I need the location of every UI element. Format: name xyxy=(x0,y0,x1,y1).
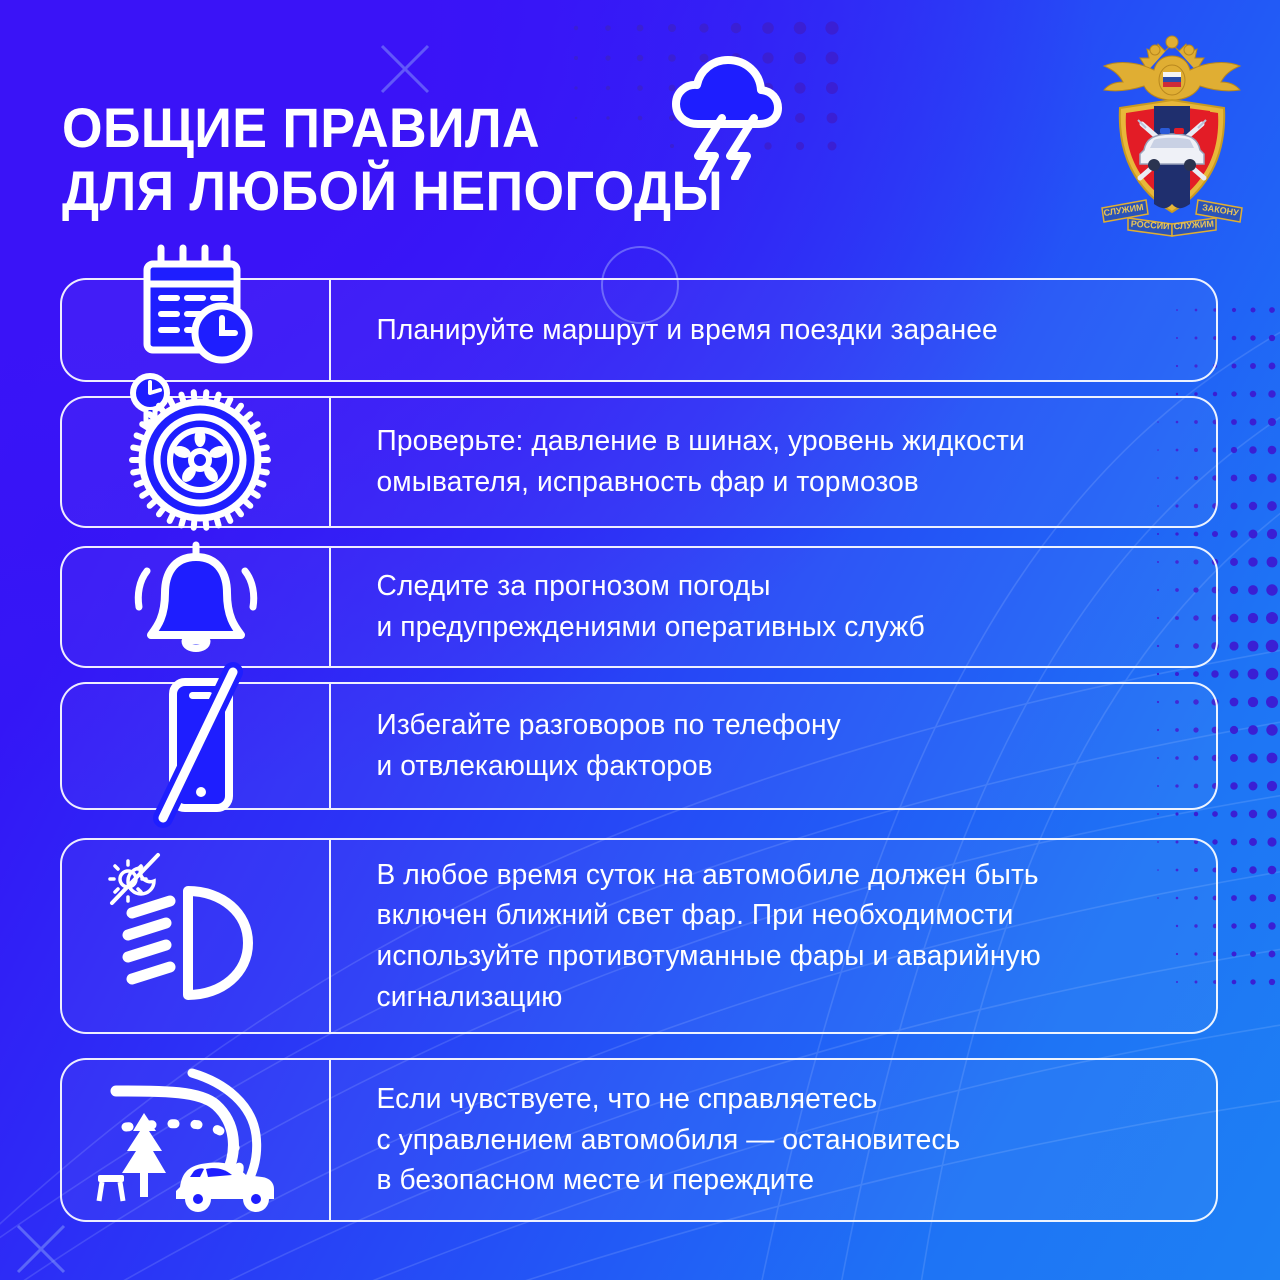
phone-no-call-icon xyxy=(62,684,329,808)
rule-text-cell-4: Избегайте разговоров по телефону и отвле… xyxy=(329,684,1216,808)
headlight-low-beam-icon xyxy=(62,840,329,1032)
rule-text-cell-1: Планируйте маршрут и время поездки заран… xyxy=(329,280,1216,380)
rule-card-5[interactable]: В любое время суток на автомобиле должен… xyxy=(60,838,1218,1034)
poster-canvas: ОБЩИЕ ПРАВИЛА ДЛЯ ЛЮБОЙ НЕПОГОДЫ xyxy=(0,0,1280,1280)
rule-card-1[interactable]: Планируйте маршрут и время поездки заран… xyxy=(60,278,1218,382)
rule-card-3[interactable]: Следите за прогнозом погоды и предупрежд… xyxy=(60,546,1218,668)
calendar-clock-icon xyxy=(62,280,329,380)
tire-pressure-gauge-icon xyxy=(62,398,329,526)
rules-list: Планируйте маршрут и время поездки заран… xyxy=(0,0,1280,1280)
rule-text-cell-2: Проверьте: давление в шинах, уровень жид… xyxy=(329,398,1216,526)
rule-text-cell-5: В любое время суток на автомобиле должен… xyxy=(329,840,1216,1032)
rule-text-3: Следите за прогнозом погоды и предупрежд… xyxy=(329,566,950,647)
car-on-winding-road-icon xyxy=(62,1060,329,1220)
rule-card-6[interactable]: Если чувствуете, что не справляетесь с у… xyxy=(60,1058,1218,1222)
rule-text-4: Избегайте разговоров по телефону и отвле… xyxy=(329,705,866,786)
rule-text-2: Проверьте: давление в шинах, уровень жид… xyxy=(329,421,1050,502)
rule-text-5: В любое время суток на автомобиле должен… xyxy=(329,855,1066,1017)
rule-text-6: Если чувствуете, что не справляетесь с у… xyxy=(329,1079,986,1201)
rule-text-1: Планируйте маршрут и время поездки заран… xyxy=(329,310,1023,351)
rule-card-4[interactable]: Избегайте разговоров по телефону и отвле… xyxy=(60,682,1218,810)
rule-text-cell-3: Следите за прогнозом погоды и предупрежд… xyxy=(329,548,1216,666)
bell-alert-icon xyxy=(62,548,329,666)
rule-card-2[interactable]: Проверьте: давление в шинах, уровень жид… xyxy=(60,396,1218,528)
rule-text-cell-6: Если чувствуете, что не справляетесь с у… xyxy=(329,1060,1216,1220)
